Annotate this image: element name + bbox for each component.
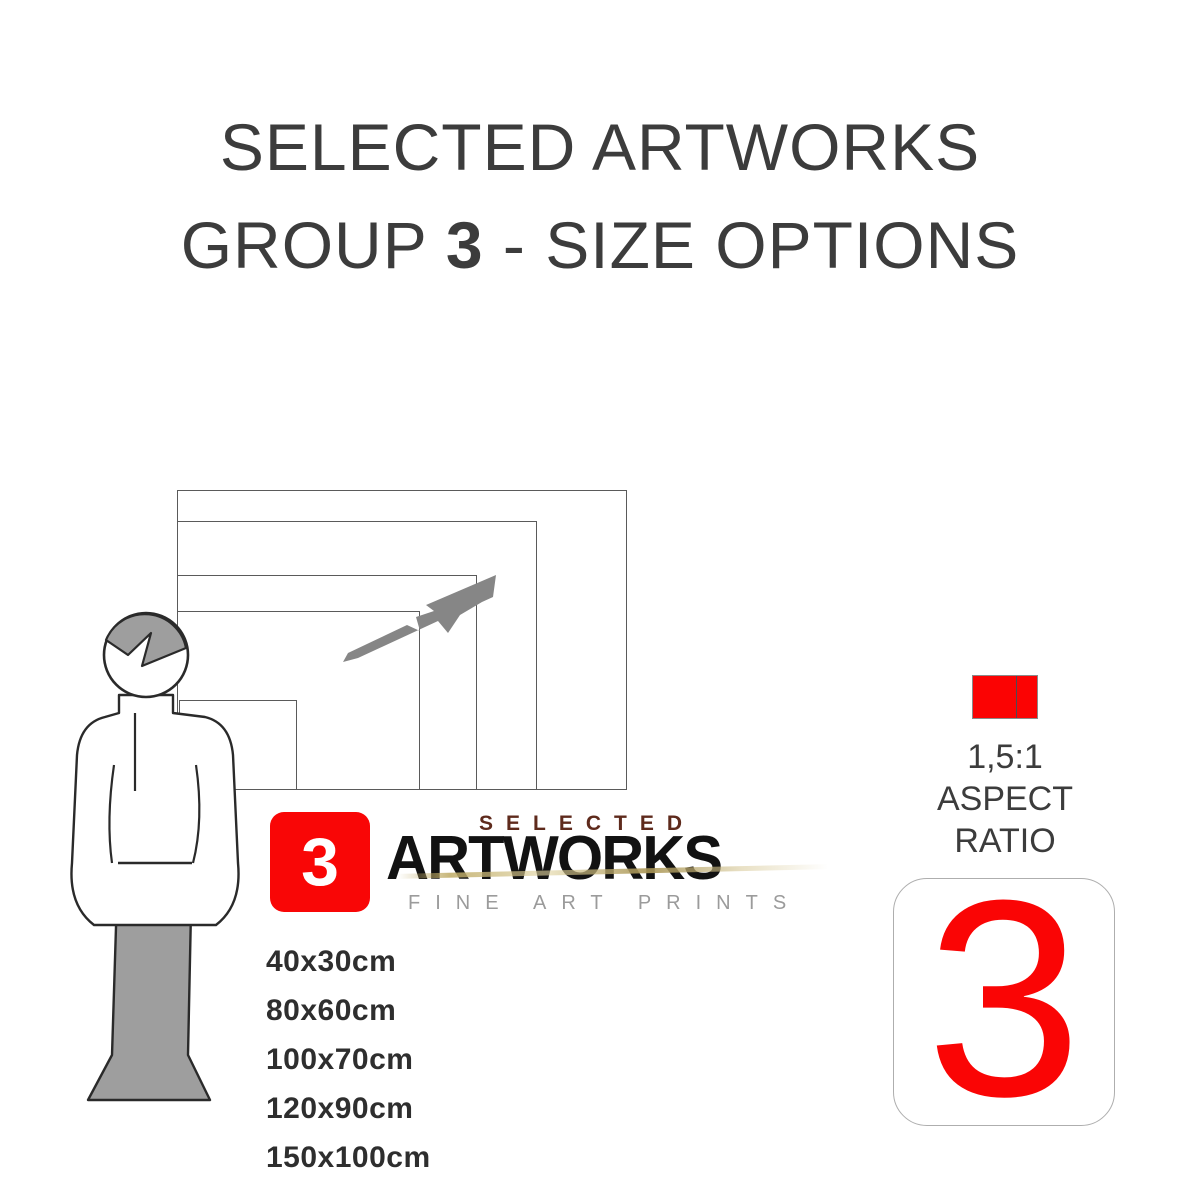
poster-canvas: SELECTED ARTWORKS GROUP 3 - SIZE OPTIONS: [0, 0, 1200, 1200]
growth-arrow-icon: [330, 555, 520, 675]
aspect-ratio-text: 1,5:1 ASPECT RATIO: [885, 736, 1125, 862]
list-item[interactable]: 150x100cm: [266, 1133, 431, 1182]
group-badge: 3: [270, 812, 370, 912]
list-item[interactable]: 40x30cm: [266, 937, 431, 986]
person-silhouette-icon: [20, 595, 270, 1155]
list-item[interactable]: 120x90cm: [266, 1084, 431, 1133]
logo-artworks-text: ARTWORKS: [386, 828, 721, 890]
aspect-ratio-value: 1,5:1: [885, 736, 1125, 778]
logo-tagline-text: FINE ART PRINTS: [408, 892, 801, 915]
aspect-swatch-divider: [1016, 676, 1018, 718]
group-number-large: 3: [926, 878, 1082, 1126]
list-item[interactable]: 80x60cm: [266, 986, 431, 1035]
aspect-ratio-panel: 1,5:1 ASPECT RATIO: [885, 675, 1125, 862]
list-item[interactable]: 100x70cm: [266, 1035, 431, 1084]
aspect-label-line2: RATIO: [885, 820, 1125, 862]
logo-wordmark: SELECTED ARTWORKS FINE ART PRINTS: [386, 812, 836, 917]
aspect-label-line1: ASPECT: [885, 778, 1125, 820]
size-options-list: 40x30cm 80x60cm 100x70cm 120x90cm 150x10…: [266, 937, 431, 1182]
brand-logo: 3 SELECTED ARTWORKS FINE ART PRINTS: [270, 812, 836, 917]
group-number-card: 3: [893, 878, 1115, 1126]
aspect-ratio-swatch-icon: [972, 675, 1038, 719]
